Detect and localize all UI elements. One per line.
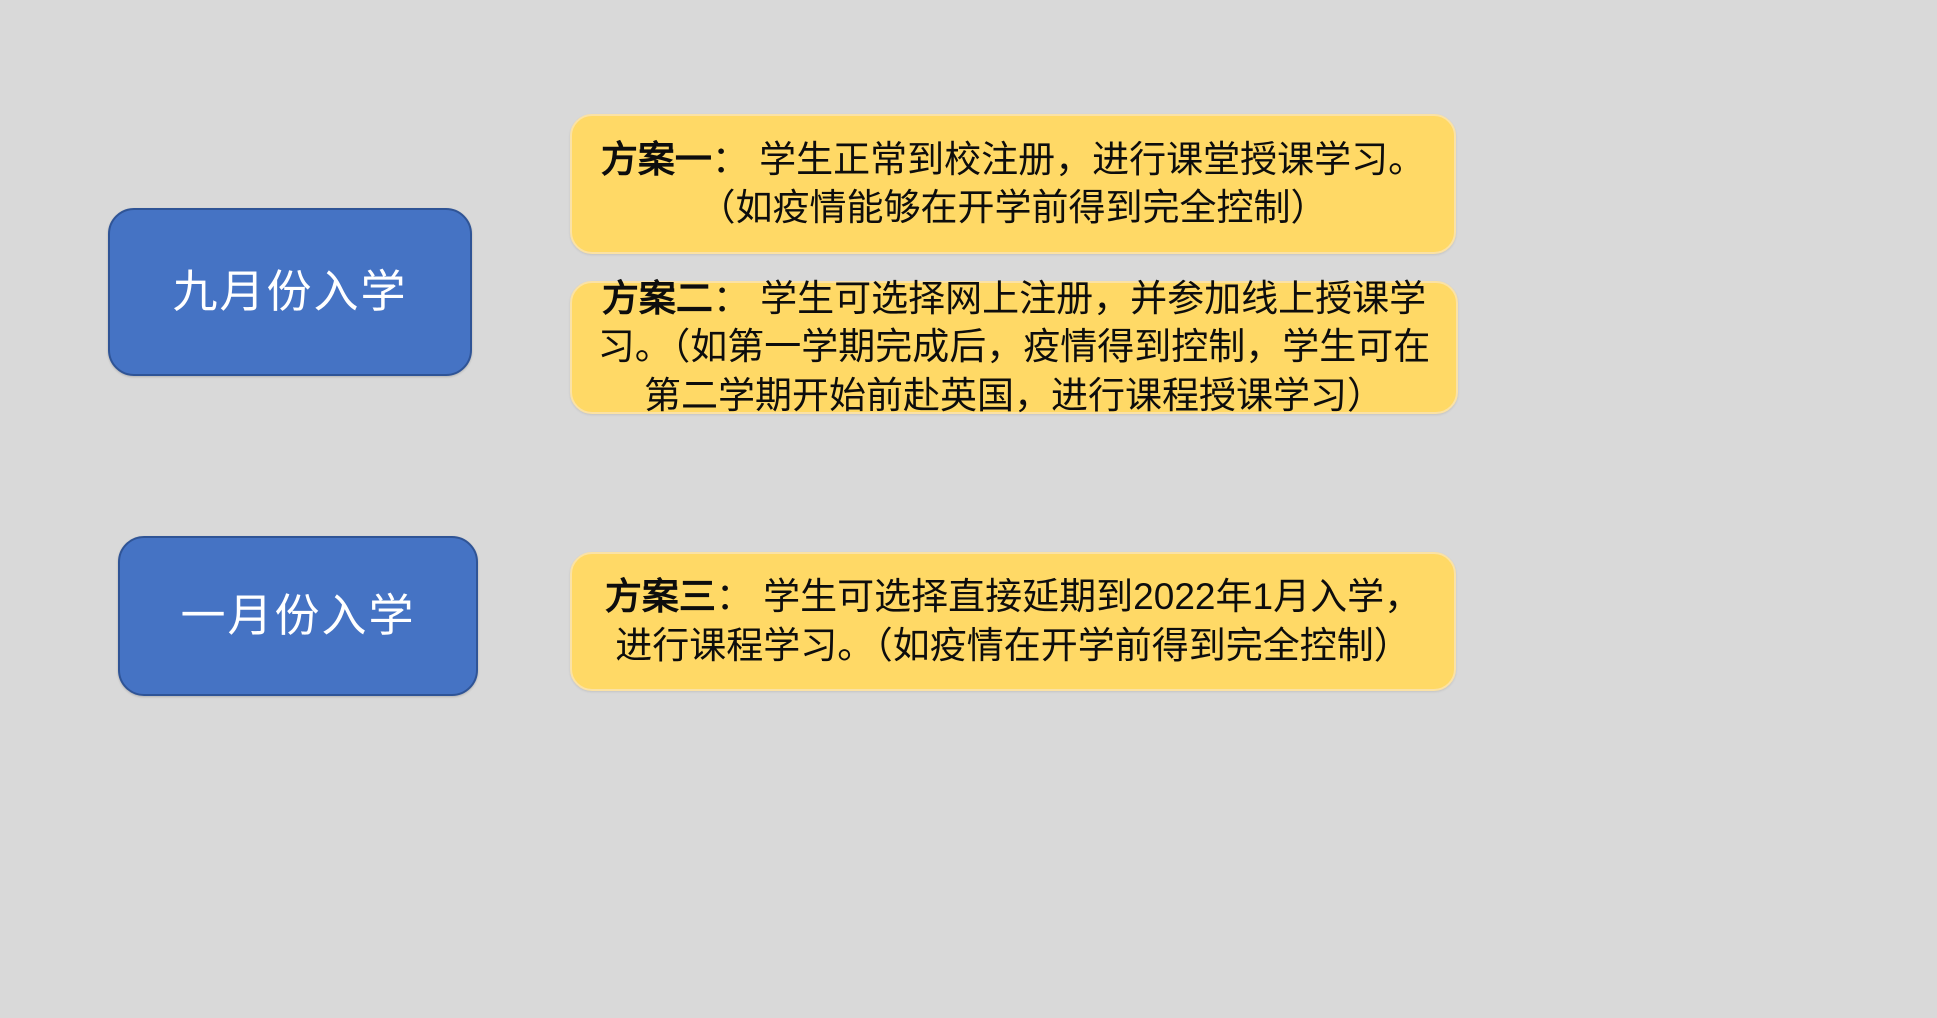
- plan-box-one[interactable]: 方案一： 学生正常到校注册，进行课堂授课学习。（如疫情能够在开学前得到完全控制）: [570, 114, 1456, 254]
- plan-two-title: 方案二: [602, 278, 713, 319]
- intake-label-september: 九月份入学: [172, 266, 407, 318]
- plan-one-body: 学生正常到校注册，进行课堂授课学习。（如疫情能够在开学前得到完全控制）: [699, 139, 1426, 228]
- plan-box-three[interactable]: 方案三： 学生可选择直接延期到2022年1月入学，进行课程学习。（如疫情在开学前…: [570, 552, 1456, 691]
- plan-three-title: 方案三: [605, 576, 716, 617]
- intake-box-september[interactable]: 九月份入学: [108, 208, 472, 376]
- plan-three-text: 方案三： 学生可选择直接延期到2022年1月入学，进行课程学习。（如疫情在开学前…: [594, 573, 1432, 669]
- plan-one-separator: ：: [712, 139, 749, 180]
- plan-three-separator: ：: [716, 576, 753, 617]
- plan-box-two[interactable]: 方案二： 学生可选择网上注册，并参加线上授课学习。（如第一学期完成后，疫情得到控…: [570, 281, 1458, 414]
- plan-two-text: 方案二： 学生可选择网上注册，并参加线上授课学习。（如第一学期完成后，疫情得到控…: [594, 275, 1434, 419]
- intake-box-january[interactable]: 一月份入学: [118, 536, 478, 696]
- plan-one-text: 方案一： 学生正常到校注册，进行课堂授课学习。（如疫情能够在开学前得到完全控制）: [594, 136, 1432, 232]
- plan-two-separator: ：: [713, 278, 750, 319]
- intake-label-january: 一月份入学: [180, 590, 415, 642]
- slide-canvas: 九月份入学 一月份入学 方案一： 学生正常到校注册，进行课堂授课学习。（如疫情能…: [0, 0, 1937, 1018]
- plan-one-title: 方案一: [601, 139, 712, 180]
